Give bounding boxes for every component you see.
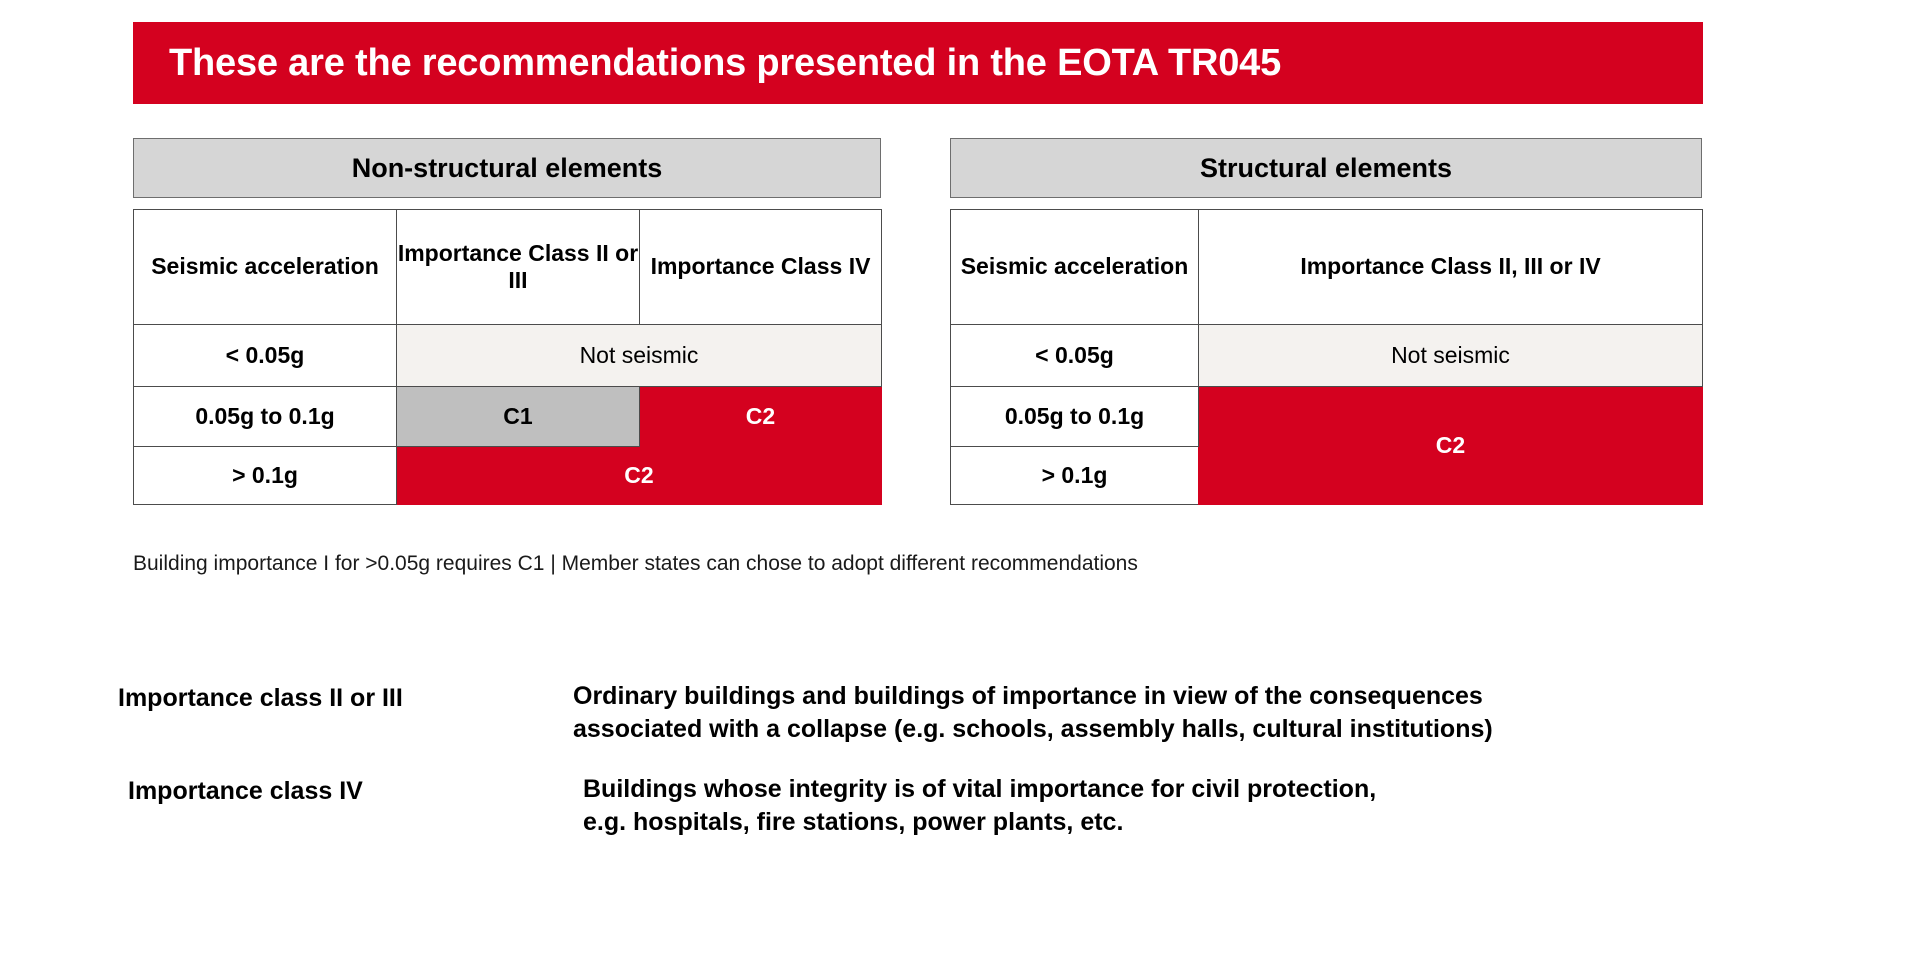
cell-acceleration: > 0.1g xyxy=(951,447,1199,505)
definition-description: Ordinary buildings and buildings of impo… xyxy=(573,680,1583,745)
cell-acceleration: < 0.05g xyxy=(134,325,397,387)
definition-item: Importance class IV Buildings whose inte… xyxy=(118,773,1818,838)
footnote-text: Building importance I for >0.05g require… xyxy=(133,552,1138,576)
definition-item: Importance class II or III Ordinary buil… xyxy=(118,680,1818,745)
non-structural-table-block: Non-structural elements Seismic accelera… xyxy=(133,138,881,505)
cell-class-c1: C1 xyxy=(397,387,640,447)
title-banner: These are the recommendations presented … xyxy=(133,22,1703,104)
table-row: > 0.1g C2 xyxy=(134,447,882,505)
table-row: < 0.05g Not seismic xyxy=(134,325,882,387)
structural-table: Seismic acceleration Importance Class II… xyxy=(950,209,1703,505)
cell-acceleration: < 0.05g xyxy=(951,325,1199,387)
cell-not-seismic: Not seismic xyxy=(397,325,882,387)
header-importance-class-ii-iii-iv: Importance Class II, III or IV xyxy=(1199,210,1703,325)
definitions-list: Importance class II or III Ordinary buil… xyxy=(118,680,1818,866)
table-row: 0.05g to 0.1g C1 C2 xyxy=(134,387,882,447)
table-header-row: Seismic acceleration Importance Class II… xyxy=(951,210,1703,325)
page-title: These are the recommendations presented … xyxy=(169,44,1281,82)
definition-term: Importance class II or III xyxy=(118,680,573,745)
structural-table-block: Structural elements Seismic acceleration… xyxy=(950,138,1702,505)
non-structural-caption: Non-structural elements xyxy=(133,138,881,198)
table-row: < 0.05g Not seismic xyxy=(951,325,1703,387)
definition-description: Buildings whose integrity is of vital im… xyxy=(583,773,1593,838)
cell-class-c2: C2 xyxy=(397,447,882,505)
header-importance-class-ii-iii: Importance Class II or III xyxy=(397,210,640,325)
non-structural-table: Seismic acceleration Importance Class II… xyxy=(133,209,882,505)
slide-canvas: These are the recommendations presented … xyxy=(0,0,1920,961)
table-header-row: Seismic acceleration Importance Class II… xyxy=(134,210,882,325)
cell-class-c2: C2 xyxy=(1199,387,1703,505)
cell-class-c2: C2 xyxy=(640,387,882,447)
table-row: 0.05g to 0.1g C2 xyxy=(951,387,1703,447)
cell-acceleration: > 0.1g xyxy=(134,447,397,505)
header-seismic-acceleration: Seismic acceleration xyxy=(951,210,1199,325)
header-importance-class-iv: Importance Class IV xyxy=(640,210,882,325)
structural-caption: Structural elements xyxy=(950,138,1702,198)
definition-term: Importance class IV xyxy=(118,773,583,838)
cell-acceleration: 0.05g to 0.1g xyxy=(134,387,397,447)
cell-acceleration: 0.05g to 0.1g xyxy=(951,387,1199,447)
cell-not-seismic: Not seismic xyxy=(1199,325,1703,387)
header-seismic-acceleration: Seismic acceleration xyxy=(134,210,397,325)
